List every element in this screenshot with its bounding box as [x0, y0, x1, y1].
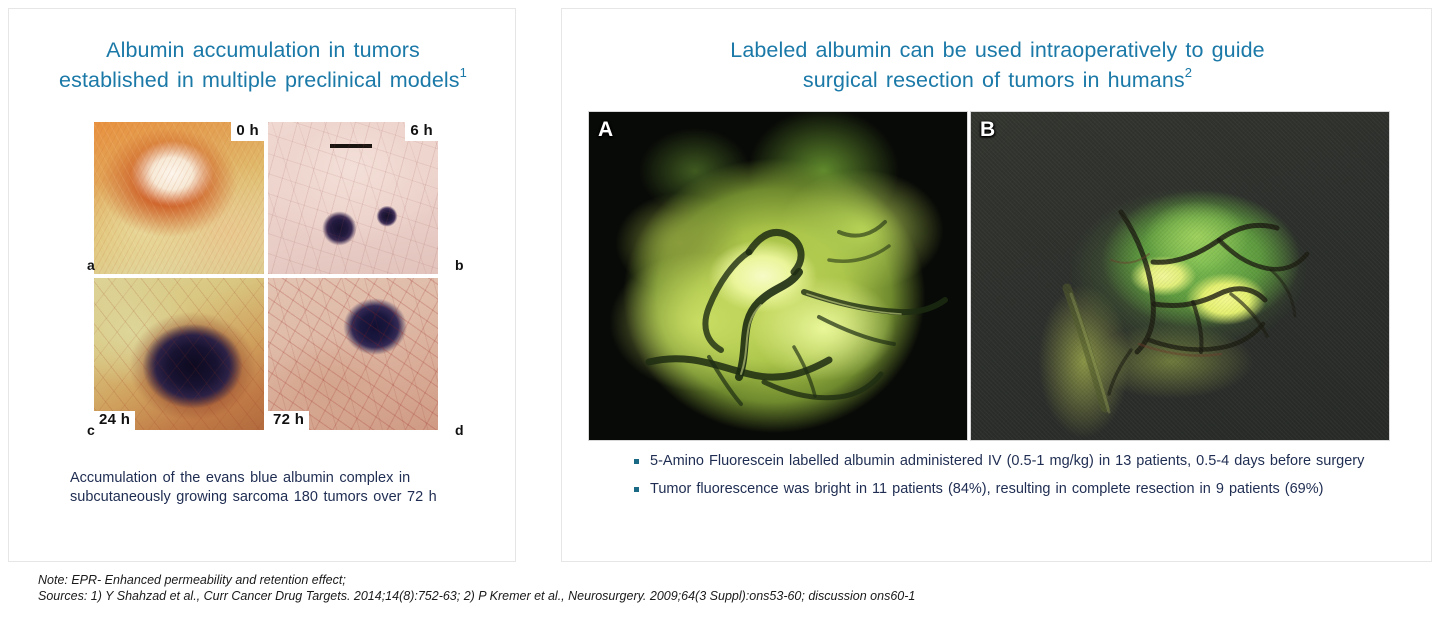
right-panel-title: Labeled albumin can be used intraoperati…	[602, 35, 1393, 95]
right-panel-bullets: 5-Amino Fluorescein labelled albumin adm…	[634, 452, 1374, 508]
bullet-item: Tumor fluorescence was bright in 11 pati…	[634, 480, 1374, 499]
photo-letter-a: a	[87, 258, 95, 272]
photo-0h-time-label: 0 h	[231, 122, 264, 141]
vessel-overlay-a	[589, 112, 968, 441]
bullet-item: 5-Amino Fluorescein labelled albumin adm…	[634, 452, 1374, 471]
preclinical-photo-grid: 0 h 6 h 24 h 72 h	[94, 122, 451, 447]
right-title-superscript: 2	[1185, 65, 1192, 80]
bullet-marker-icon	[634, 459, 639, 464]
fluorescence-noise-b	[971, 112, 1389, 440]
photo-letter-d: d	[455, 423, 464, 437]
photo-letter-b: b	[455, 258, 464, 272]
right-title-line1: Labeled albumin can be used intraoperati…	[730, 38, 1264, 62]
photo-6h: 6 h	[268, 122, 438, 274]
right-title-line2: surgical resection of tumors in humans	[803, 68, 1185, 92]
photo-24h: 24 h	[94, 278, 264, 430]
bullet-text-1: 5-Amino Fluorescein labelled albumin adm…	[650, 452, 1364, 471]
left-title-superscript: 1	[460, 65, 467, 80]
left-panel: Albumin accumulation in tumors establish…	[8, 8, 516, 562]
left-panel-caption: Accumulation of the evans blue albumin c…	[70, 469, 470, 507]
left-panel-title: Albumin accumulation in tumors establish…	[23, 35, 503, 95]
fluorescence-label-b: B	[980, 118, 995, 142]
footnote-sources: Note: EPR- Enhanced permeability and ret…	[38, 572, 915, 604]
scale-bar	[330, 144, 372, 148]
left-title-line1: Albumin accumulation in tumors	[106, 38, 420, 62]
bullet-text-2: Tumor fluorescence was bright in 11 pati…	[650, 480, 1323, 499]
photo-72h-time-label: 72 h	[268, 411, 309, 430]
photo-6h-time-label: 6 h	[405, 122, 438, 141]
fluorescence-image-a: A	[588, 111, 968, 441]
bullet-marker-icon	[634, 487, 639, 492]
photo-letter-c: c	[87, 423, 95, 437]
left-title-line2: established in multiple preclinical mode…	[59, 68, 460, 92]
photo-72h: 72 h	[268, 278, 438, 430]
fluorescence-label-a: A	[598, 118, 613, 142]
photo-0h: 0 h	[94, 122, 264, 274]
photo-24h-time-label: 24 h	[94, 411, 135, 430]
fluorescence-image-b: B	[970, 111, 1390, 441]
